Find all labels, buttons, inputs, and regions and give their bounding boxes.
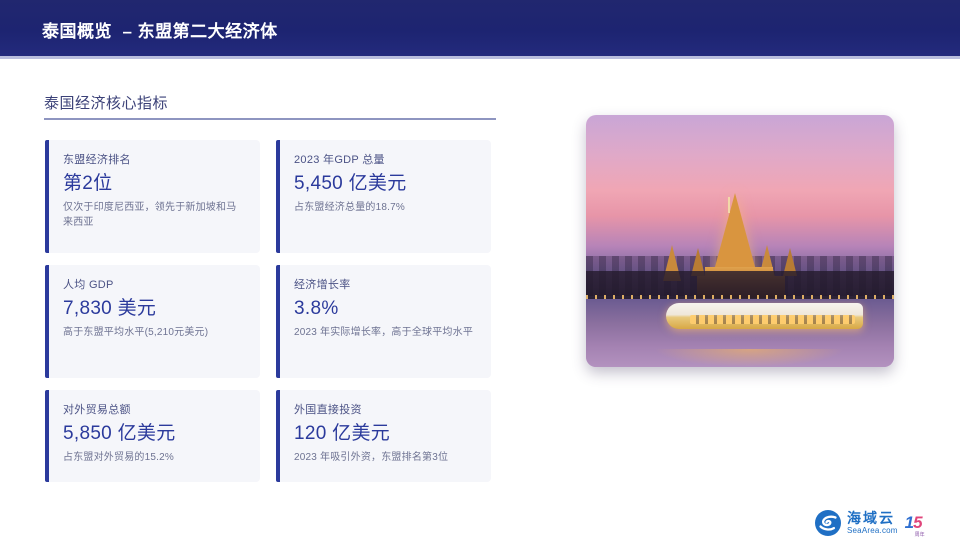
anniversary-badge: 15 周年 — [905, 513, 922, 533]
brand-name-en: SeaArea.com — [847, 527, 898, 535]
metric-note: 2023 年实际增长率，高于全球平均水平 — [294, 326, 477, 341]
metric-card-row: 对外贸易总额 5,850 亿美元 占东盟对外贸易的15.2% 外国直接投资 12… — [45, 390, 495, 482]
metric-label: 外国直接投资 — [294, 403, 477, 417]
anniversary-digit-one: 1 — [905, 513, 913, 532]
card-accent-bar — [45, 265, 49, 378]
metric-value: 120 亿美元 — [294, 423, 477, 445]
metric-value: 3.8% — [294, 298, 477, 320]
prang-spire — [728, 197, 730, 213]
card-accent-bar — [45, 140, 49, 253]
metric-note: 高于东盟平均水平(5,210元美元) — [63, 326, 246, 341]
metric-value: 5,850 亿美元 — [63, 423, 246, 445]
metric-value: 5,450 亿美元 — [294, 173, 477, 195]
page-title: 泰国概览 – 东盟第二大经济体 — [42, 17, 278, 42]
anniversary-digit-five: 5 — [913, 513, 921, 532]
metric-value: 第2位 — [63, 173, 246, 195]
metric-note: 占东盟对外贸易的15.2% — [63, 451, 246, 466]
metric-card-row: 人均 GDP 7,830 美元 高于东盟平均水平(5,210元美元) 经济增长率… — [45, 265, 495, 378]
anniversary-subtext: 周年 — [915, 531, 925, 538]
brand-name-cn: 海域云 — [847, 511, 898, 525]
metric-note: 2023 年吸引外资，东盟排名第3位 — [294, 451, 477, 466]
metric-label: 对外贸易总额 — [63, 403, 246, 417]
metric-label: 人均 GDP — [63, 278, 246, 292]
metric-card-asean-rank[interactable]: 东盟经济排名 第2位 仅次于印度尼西亚，领先于新加坡和马来西亚 — [45, 140, 260, 253]
boat-windows — [690, 315, 856, 324]
brand-logo[interactable]: 海域云 SeaArea.com 15 周年 — [814, 507, 950, 539]
river-cruise-boat — [666, 303, 863, 329]
metric-value: 7,830 美元 — [63, 298, 246, 320]
metric-cards-grid: 东盟经济排名 第2位 仅次于印度尼西亚，领先于新加坡和马来西亚 2023 年GD… — [45, 140, 495, 494]
thailand-photo — [586, 115, 894, 367]
metric-label: 东盟经济排名 — [63, 153, 246, 167]
metric-card-fdi[interactable]: 外国直接投资 120 亿美元 2023 年吸引外资，东盟排名第3位 — [276, 390, 491, 482]
metric-card-foreign-trade[interactable]: 对外贸易总额 5,850 亿美元 占东盟对外贸易的15.2% — [45, 390, 260, 482]
metric-card-gdp-total[interactable]: 2023 年GDP 总量 5,450 亿美元 占东盟经济总量的18.7% — [276, 140, 491, 253]
metric-label: 经济增长率 — [294, 278, 477, 292]
wat-arun-sunset-image — [586, 115, 894, 367]
seaarea-wave-icon — [814, 509, 842, 537]
card-accent-bar — [276, 265, 280, 378]
card-accent-bar — [276, 390, 280, 482]
metric-card-gdp-per-capita[interactable]: 人均 GDP 7,830 美元 高于东盟平均水平(5,210元美元) — [45, 265, 260, 378]
card-accent-bar — [45, 390, 49, 482]
metric-note: 占东盟经济总量的18.7% — [294, 201, 477, 216]
section-divider — [44, 118, 496, 120]
river-light-reflection — [654, 349, 845, 367]
card-accent-bar — [276, 140, 280, 253]
metric-note: 仅次于印度尼西亚，领先于新加坡和马来西亚 — [63, 201, 246, 230]
brand-logo-text: 海域云 SeaArea.com — [847, 511, 898, 535]
section-heading: 泰国经济核心指标 — [44, 92, 168, 113]
metric-label: 2023 年GDP 总量 — [294, 153, 477, 167]
metric-card-growth-rate[interactable]: 经济增长率 3.8% 2023 年实际增长率，高于全球平均水平 — [276, 265, 491, 378]
header-underline — [0, 56, 960, 59]
metric-card-row: 东盟经济排名 第2位 仅次于印度尼西亚，领先于新加坡和马来西亚 2023 年GD… — [45, 140, 495, 253]
